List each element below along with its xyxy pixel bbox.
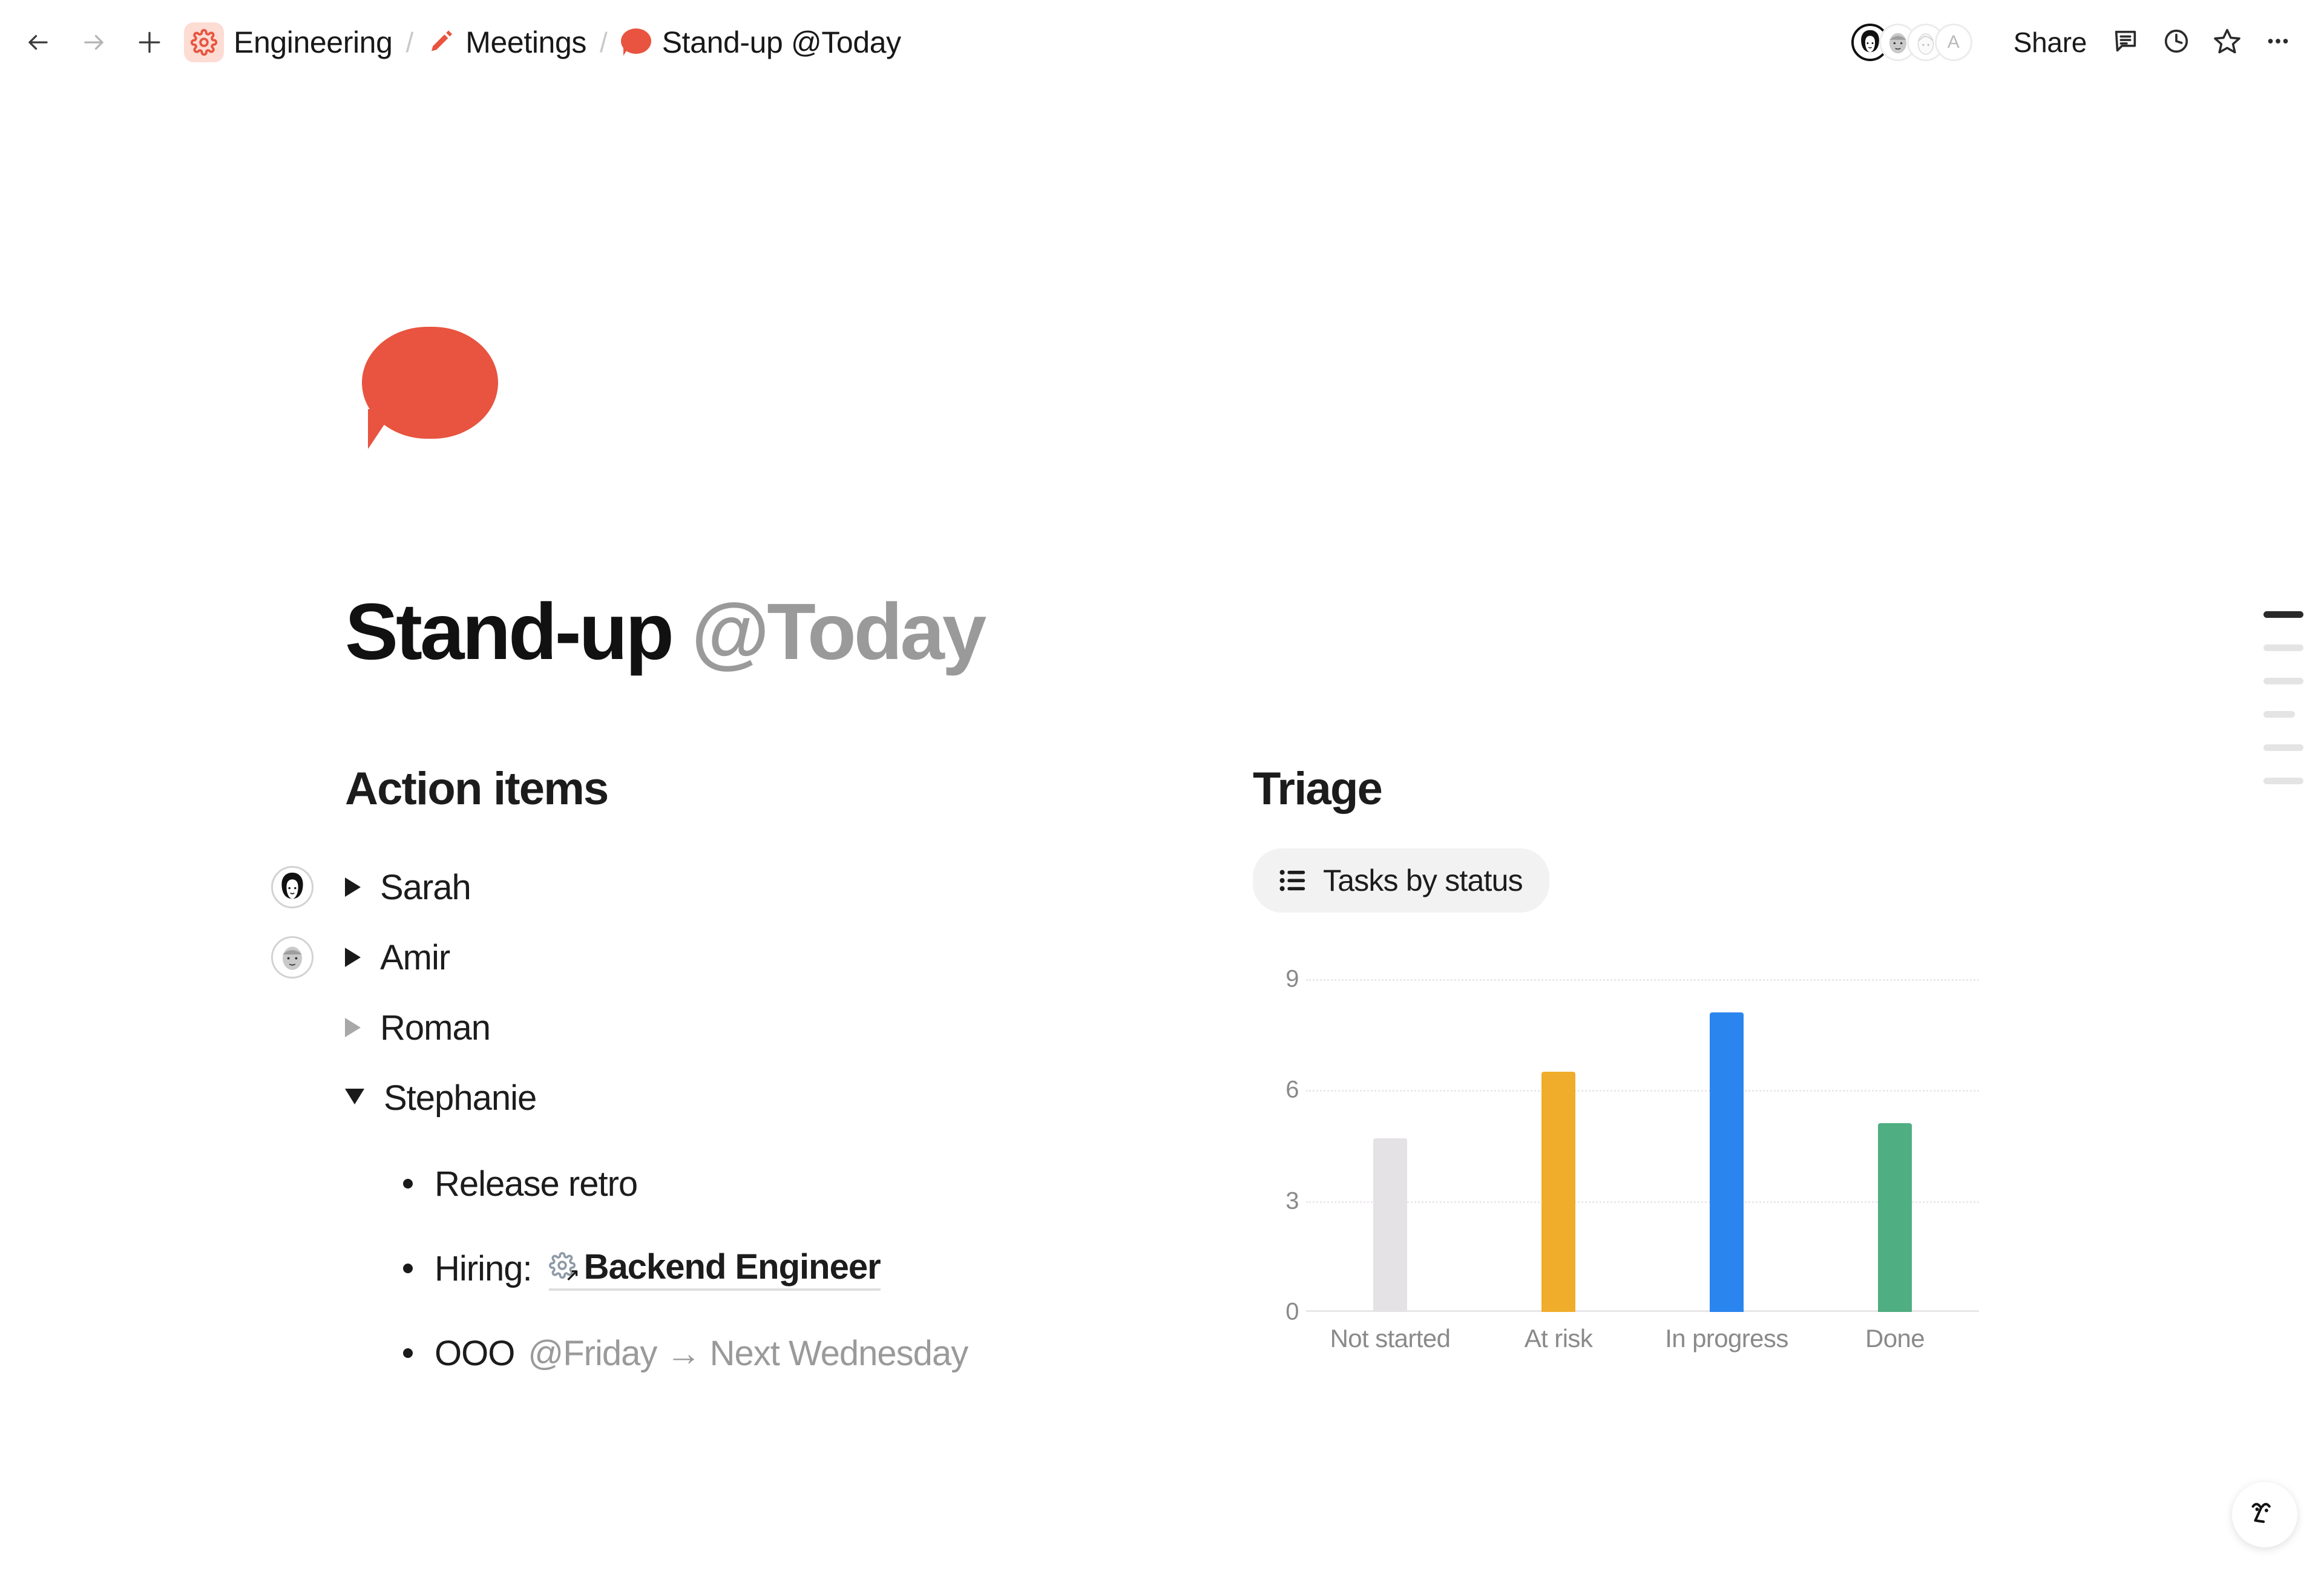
list-item-prefix: Hiring:: [435, 1248, 532, 1289]
chevron-down-icon[interactable]: [345, 1089, 364, 1104]
table-of-contents-minimap[interactable]: [2263, 611, 2303, 784]
breadcrumb-separator-2: /: [600, 26, 608, 59]
bar-slot: [1643, 979, 1811, 1312]
speech-bubble-emoji[interactable]: [362, 327, 506, 463]
bar-in-progress[interactable]: [1710, 1012, 1744, 1312]
more-options-button[interactable]: [2253, 17, 2303, 68]
list-item[interactable]: Sarah: [345, 852, 1132, 922]
list-item-label: Amir: [380, 937, 450, 978]
chart-plot-area: 9 6 3 0: [1306, 979, 1979, 1312]
bulleted-list-icon: [1279, 868, 1307, 893]
bar-at-risk[interactable]: [1541, 1072, 1575, 1312]
favorite-button[interactable]: [2202, 17, 2253, 68]
x-axis-tick: Not started: [1306, 1324, 1474, 1353]
list-item[interactable]: Roman: [345, 992, 1132, 1063]
history-clock-icon: [2162, 27, 2190, 58]
nav-button-group: [16, 20, 172, 65]
help-face-icon: [2246, 1495, 2283, 1535]
comments-button[interactable]: [2100, 17, 2151, 68]
x-axis-tick: At risk: [1474, 1324, 1643, 1353]
avatar: [271, 936, 313, 979]
toc-line[interactable]: [2263, 778, 2303, 784]
y-axis-tick: 9: [1250, 966, 1299, 993]
breadcrumb-item-engineering[interactable]: Engineering: [184, 22, 392, 62]
page-title[interactable]: Stand-up @Today: [345, 592, 984, 672]
toc-line[interactable]: [2263, 611, 2303, 618]
stephanie-sub-items: Release retro Hiring: ↗: [403, 1141, 1132, 1395]
list-item[interactable]: Amir: [345, 922, 1132, 992]
top-toolbar: Engineering / Meetings / Stand-up @Today: [0, 0, 2324, 85]
back-button[interactable]: [16, 20, 61, 65]
list-item-label: Roman: [380, 1008, 490, 1048]
breadcrumb-label-engineering: Engineering: [234, 25, 392, 60]
favorite-star-icon: [2213, 27, 2242, 59]
toc-line[interactable]: [2263, 711, 2295, 718]
plus-icon: [137, 30, 162, 55]
bar-slot: [1306, 979, 1474, 1312]
share-button[interactable]: Share: [2000, 20, 2100, 65]
action-items-list: Sarah Amir Roman: [345, 852, 1132, 1395]
avatar[interactable]: A: [1935, 24, 1972, 61]
list-item[interactable]: Release retro: [403, 1141, 1132, 1226]
forward-button[interactable]: [71, 20, 116, 65]
ooo-label: OOO: [435, 1333, 514, 1374]
triage-heading: Triage: [1253, 766, 2003, 812]
breadcrumb-separator: /: [405, 26, 413, 59]
backend-engineer-link[interactable]: ↗ Backend Engineer: [549, 1247, 881, 1291]
ooo-date-range: @Friday → Next Wednesday: [528, 1333, 968, 1374]
new-page-button[interactable]: [127, 20, 172, 65]
tasks-by-status-chart[interactable]: 9 6 3 0: [1253, 979, 1979, 1366]
breadcrumb-item-meetings[interactable]: Meetings: [427, 25, 586, 60]
toc-line[interactable]: [2263, 644, 2303, 651]
gear-icon: ↗: [549, 1252, 578, 1281]
external-link-arrow-icon: ↗: [565, 1267, 579, 1284]
help-button[interactable]: [2232, 1482, 2297, 1547]
list-item-label: Release retro: [435, 1164, 637, 1204]
chevron-right-icon[interactable]: [345, 877, 361, 897]
collaborator-avatar-stack[interactable]: A: [1851, 24, 1972, 61]
bar-not-started[interactable]: [1373, 1138, 1407, 1312]
chart-x-labels: Not started At risk In progress Done: [1306, 1324, 1979, 1353]
toolbar-actions: A Share: [1851, 17, 2303, 68]
list-item[interactable]: Stephanie: [345, 1063, 1132, 1133]
chevron-right-icon[interactable]: [345, 1018, 361, 1037]
comments-icon: [2112, 27, 2139, 58]
more-options-icon: [2264, 27, 2292, 58]
tasks-by-status-chip-label: Tasks by status: [1323, 863, 1523, 898]
arrow-left-icon: [25, 30, 51, 55]
y-axis-tick: 6: [1250, 1077, 1299, 1104]
gear-icon: [184, 22, 224, 62]
list-item-label: Stephanie: [384, 1078, 536, 1118]
bullet-icon: [403, 1264, 413, 1273]
avatar: [271, 866, 313, 908]
breadcrumb: Engineering / Meetings / Stand-up @Today: [184, 22, 901, 62]
bullet-icon: [403, 1179, 413, 1189]
y-axis-tick: 0: [1250, 1299, 1299, 1326]
action-items-section: Action items Sarah: [345, 766, 1132, 1395]
page-title-main: Stand-up: [345, 587, 692, 676]
list-item-label: Sarah: [380, 867, 471, 908]
action-items-heading: Action items: [345, 766, 1132, 812]
toc-line[interactable]: [2263, 678, 2303, 684]
history-button[interactable]: [2151, 17, 2202, 68]
x-axis-tick: Done: [1811, 1324, 1979, 1353]
breadcrumb-item-standup[interactable]: Stand-up @Today: [621, 25, 901, 60]
backend-engineer-link-label: Backend Engineer: [584, 1247, 881, 1287]
chevron-right-icon[interactable]: [345, 948, 361, 967]
list-item[interactable]: OOO @Friday → Next Wednesday: [403, 1311, 1132, 1395]
chart-bars: [1306, 979, 1979, 1312]
list-item[interactable]: Hiring: ↗ Backend Engineer: [403, 1226, 1132, 1311]
bullet-icon: [403, 1348, 413, 1358]
page-title-date: @Today: [692, 587, 985, 676]
pencil-icon: [427, 27, 456, 59]
triage-section: Triage Tasks by status 9 6 3 0: [1253, 766, 2003, 1366]
avatar-initial: A: [1937, 25, 1971, 59]
y-axis-tick: 3: [1250, 1187, 1299, 1215]
bar-slot: [1811, 979, 1979, 1312]
breadcrumb-label-meetings: Meetings: [465, 25, 586, 60]
arrow-right-icon: [81, 30, 107, 55]
bar-slot: [1474, 979, 1643, 1312]
tasks-by-status-chip[interactable]: Tasks by status: [1253, 848, 1549, 913]
breadcrumb-label-standup: Stand-up @Today: [662, 25, 901, 60]
speech-bubble-icon: [621, 28, 652, 56]
x-axis-tick: In progress: [1643, 1324, 1811, 1353]
bar-done[interactable]: [1878, 1123, 1912, 1312]
toc-line[interactable]: [2263, 744, 2303, 751]
